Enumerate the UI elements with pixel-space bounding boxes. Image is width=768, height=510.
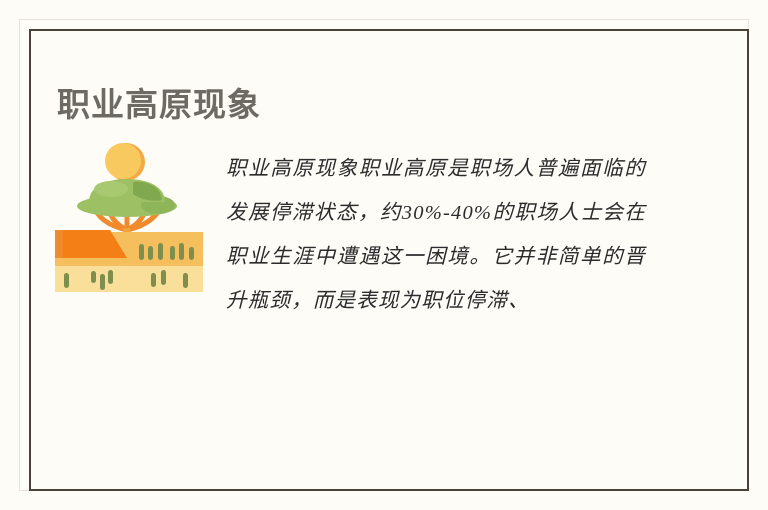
ground-sand-band — [55, 266, 203, 292]
article-paragraph: 职业高原现象职业高原是职场人普遍面临的发展停滞状态，约30%-40%的职场人士会… — [226, 147, 646, 323]
page-title: 职业高原现象 — [57, 85, 261, 125]
acacia-canopy-icon — [77, 179, 177, 217]
article-content: 职业高原现象 — [29, 29, 749, 491]
sun-icon — [105, 143, 145, 181]
article-body: 职业高原现象职业高原是职场人普遍面临的发展停滞状态，约30%-40%的职场人士会… — [29, 126, 749, 376]
savanna-plateau-illustration — [55, 134, 203, 292]
orange-mesa-shade — [55, 230, 63, 258]
article-page: 职业高原现象 — [0, 0, 768, 510]
